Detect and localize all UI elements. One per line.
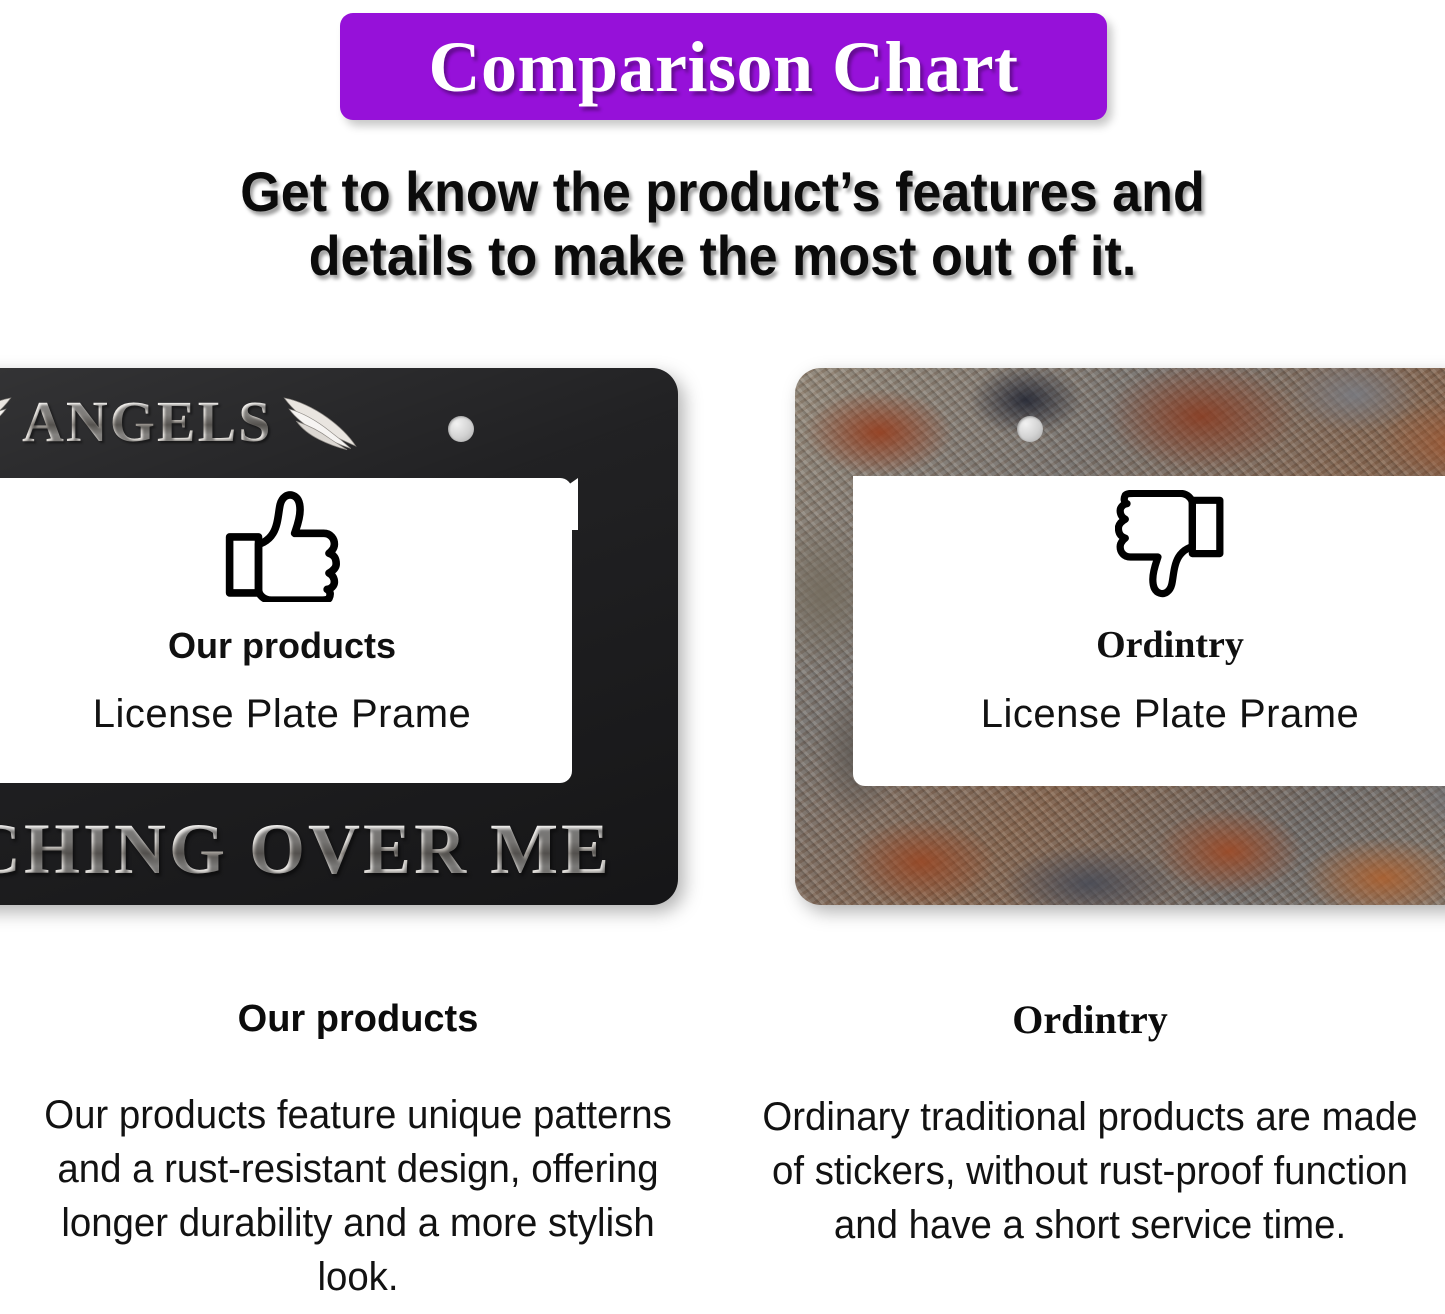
product-label-right: License Plate Prame xyxy=(981,694,1360,734)
mounting-hole-left xyxy=(448,416,474,442)
title-banner: Comparison Chart xyxy=(340,13,1107,120)
brand-label-left: Our products xyxy=(168,628,396,664)
frame-bottom-banner-left: TCHING OVER ME xyxy=(0,793,678,905)
angel-wing-right-icon xyxy=(283,392,357,452)
description-body-left: Our products feature unique patterns and… xyxy=(22,1088,694,1304)
subtitle-line-1: Get to know the product’s features and xyxy=(51,160,1395,224)
description-body-right: Ordinary traditional products are made o… xyxy=(754,1090,1426,1252)
angel-wing-left-icon xyxy=(0,392,12,452)
subtitle-line-2: details to make the most out of it. xyxy=(51,224,1395,288)
plate-content-left: Our products License Plate Prame xyxy=(42,490,522,734)
product-label-left: License Plate Prame xyxy=(93,694,472,734)
product-frame-ordinary: Ordintry License Plate Prame xyxy=(795,368,1445,905)
description-column-ours: Our products Our products feature unique… xyxy=(8,1000,708,1304)
plate-content-right: Ordintry License Plate Prame xyxy=(910,490,1430,734)
brand-label-right: Ordintry xyxy=(1096,626,1244,664)
subtitle: Get to know the product’s features and d… xyxy=(51,160,1395,288)
description-column-ordinary: Ordintry Ordinary traditional products a… xyxy=(740,1000,1440,1252)
frame-top-banner-left: ANGELS xyxy=(0,368,678,476)
description-heading-left: Our products xyxy=(8,1000,708,1038)
page-title: Comparison Chart xyxy=(428,31,1018,103)
description-heading-right: Ordintry xyxy=(740,1000,1440,1040)
thumbs-down-icon xyxy=(1115,490,1225,600)
thumbs-up-icon xyxy=(223,490,341,602)
comparison-chart-page: Comparison Chart Get to know the product… xyxy=(0,0,1445,1314)
product-frame-ours: ANGELS TCHING OVER ME xyxy=(0,368,678,905)
frame-top-text-left: ANGELS xyxy=(22,393,273,451)
mounting-hole-right xyxy=(1017,416,1043,442)
frame-bottom-text-left: TCHING OVER ME xyxy=(0,813,612,885)
